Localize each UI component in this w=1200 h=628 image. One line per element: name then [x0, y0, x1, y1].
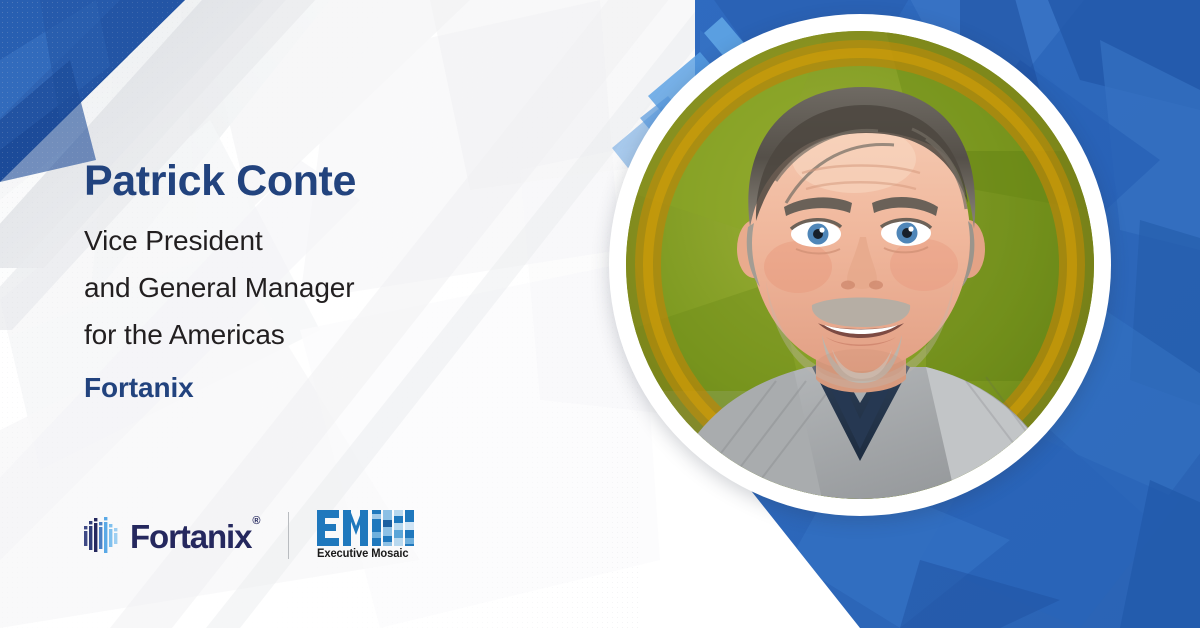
logo-divider	[288, 512, 289, 559]
speaker-text-block: Patrick Conte Vice President and General…	[84, 155, 554, 411]
executive-mosaic-wordmark: Executive Mosaic	[317, 548, 408, 560]
fortanix-logo[interactable]: Fortanix®	[84, 514, 258, 556]
logo-row: Fortanix®	[84, 503, 417, 567]
fortanix-wordmark: Fortanix®	[130, 517, 258, 553]
portrait	[609, 14, 1111, 516]
person-title-line-1: Vice President	[84, 217, 554, 264]
headshot-illustration	[626, 31, 1094, 499]
registered-trademark-icon: ®	[252, 515, 259, 527]
person-company: Fortanix	[84, 364, 554, 411]
executive-spotlight-banner: Patrick Conte Vice President and General…	[0, 0, 1200, 628]
fortanix-wordmark-text: Fortanix	[130, 518, 251, 555]
executive-mosaic-tiles-mark-icon	[317, 510, 417, 546]
person-name: Patrick Conte	[84, 155, 554, 207]
person-title-line-3: for the Americas	[84, 311, 554, 358]
fortanix-bars-mark-icon	[84, 514, 121, 556]
executive-mosaic-logo[interactable]: Executive Mosaic	[317, 510, 417, 560]
person-title-line-2: and General Manager	[84, 264, 554, 311]
portrait-photo	[626, 31, 1094, 499]
